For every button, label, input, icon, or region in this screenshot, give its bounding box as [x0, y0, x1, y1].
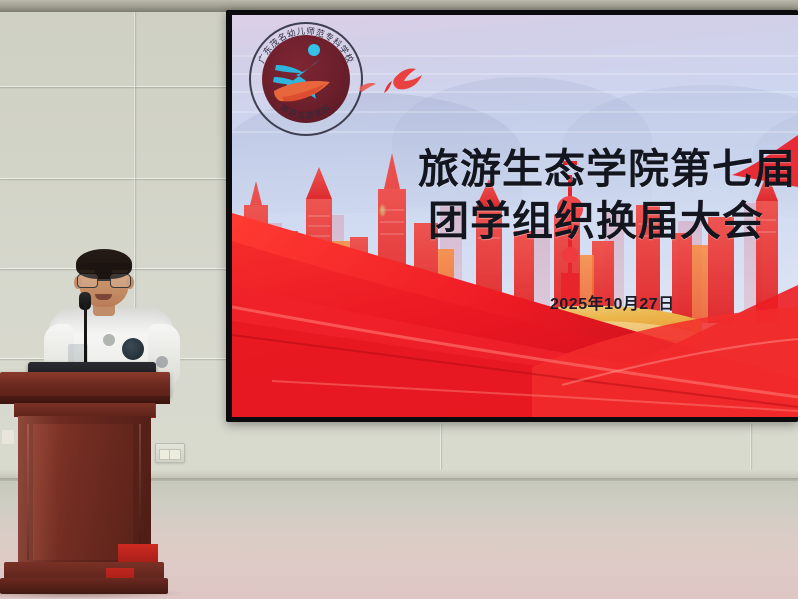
- eyebrow-right: [112, 270, 128, 273]
- shirt-badge-sleeve: [156, 356, 168, 368]
- glasses-icon: [77, 274, 131, 288]
- led-screen[interactable]: 广东茂名幼儿师范专科学校 旅游生态学院 旅游生态学院第七届 团学组织换届大会 2…: [232, 15, 798, 417]
- event-date: 2025年10月27日: [550, 290, 675, 314]
- svg-text:广东茂名幼儿师范专科学校: 广东茂名幼儿师范专科学校: [255, 25, 357, 65]
- shirt-badge-small: [103, 334, 115, 346]
- lectern-highlight: [18, 416, 58, 568]
- lectern-top: [0, 372, 170, 398]
- light-flare: [380, 205, 385, 216]
- screen-title: 旅游生态学院第七届 团学组织换届大会: [418, 143, 798, 247]
- emblem-ring-text: 广东茂名幼儿师范专科学校 旅游生态学院: [249, 22, 363, 136]
- title-line-1: 旅游生态学院第七届: [418, 143, 798, 195]
- college-emblem: 广东茂名幼儿师范专科学校 旅游生态学院: [249, 22, 363, 136]
- lectern-plinth: [0, 578, 168, 594]
- photo-scene: 广东茂名幼儿师范专科学校 旅游生态学院 旅游生态学院第七届 团学组织换届大会 2…: [0, 0, 798, 599]
- red-dove-icon: [350, 57, 440, 113]
- lens-right: [110, 274, 131, 288]
- lectern: [0, 372, 170, 599]
- title-line-2: 团学组织换届大会: [428, 195, 798, 247]
- lectern-label-plate: [2, 430, 14, 444]
- lens-left: [77, 274, 98, 288]
- lectern-groove: [139, 424, 141, 560]
- glasses-bridge: [98, 279, 110, 281]
- shirt-badge-dark: [122, 338, 144, 360]
- svg-text:旅游生态学院: 旅游生态学院: [279, 102, 333, 120]
- eyebrow-left: [79, 270, 95, 273]
- lectern-neck: [14, 403, 155, 417]
